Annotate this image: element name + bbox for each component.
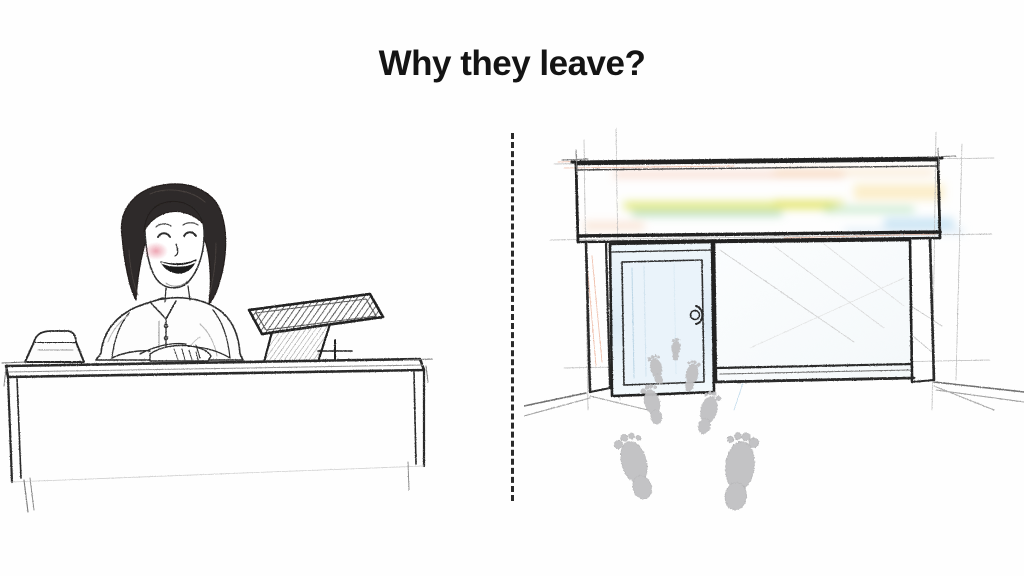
glass-entrance-door xyxy=(610,242,714,396)
panel-shop-interior xyxy=(0,110,500,550)
panel-storefront xyxy=(524,110,1024,550)
slide-canvas: Why they leave? xyxy=(0,0,1024,576)
card-reader-box xyxy=(25,331,84,362)
footprint xyxy=(695,390,722,436)
signboard-colour-smudges xyxy=(584,170,964,234)
footprint xyxy=(612,430,658,503)
dashed-vertical-divider xyxy=(511,133,514,501)
assistant-head xyxy=(121,184,225,304)
storefront-right-pillar xyxy=(910,238,934,382)
storefront-sketch xyxy=(524,110,1024,550)
page-title: Why they leave? xyxy=(0,44,1024,84)
pos-terminal-monitor xyxy=(249,294,383,365)
ground-line xyxy=(524,382,1024,416)
service-counter-desk xyxy=(2,359,432,512)
shop-interior-sketch xyxy=(0,110,500,550)
display-window xyxy=(714,240,914,382)
footprint xyxy=(720,431,759,512)
blush-mark xyxy=(144,242,168,260)
